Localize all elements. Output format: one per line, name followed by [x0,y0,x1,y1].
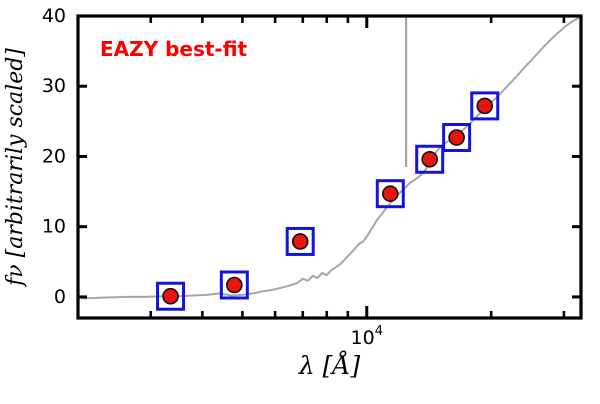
sed-plot-svg: 010203040104λ [Å]fν [arbitrarily scaled]… [0,0,600,400]
x-tick-exponent: 4 [375,324,383,339]
sed-figure: 010203040104λ [Å]fν [arbitrarily scaled]… [0,0,600,400]
y-tick-label: 30 [42,75,66,97]
x-axis-ticks: 104 [151,16,564,349]
y-tick-label: 20 [42,145,66,167]
photometry-point [477,98,492,113]
photometry-point [163,289,178,304]
photometry-point [293,234,308,249]
x-axis-label: λ [Å] [298,350,361,380]
photometry-points-layer [158,93,498,309]
photometry-point [449,130,464,145]
y-tick-label: 0 [54,286,66,308]
photometry-point [383,186,398,201]
y-tick-label: 10 [42,216,66,238]
y-tick-label: 40 [42,5,66,27]
photometry-point [422,152,437,167]
photometry-point [227,277,242,292]
eazy-best-fit-annotation: EAZY best-fit [100,37,248,61]
y-axis-label: fν [arbitrarily scaled] [3,48,28,288]
x-major-tick-label: 104 [351,324,383,349]
